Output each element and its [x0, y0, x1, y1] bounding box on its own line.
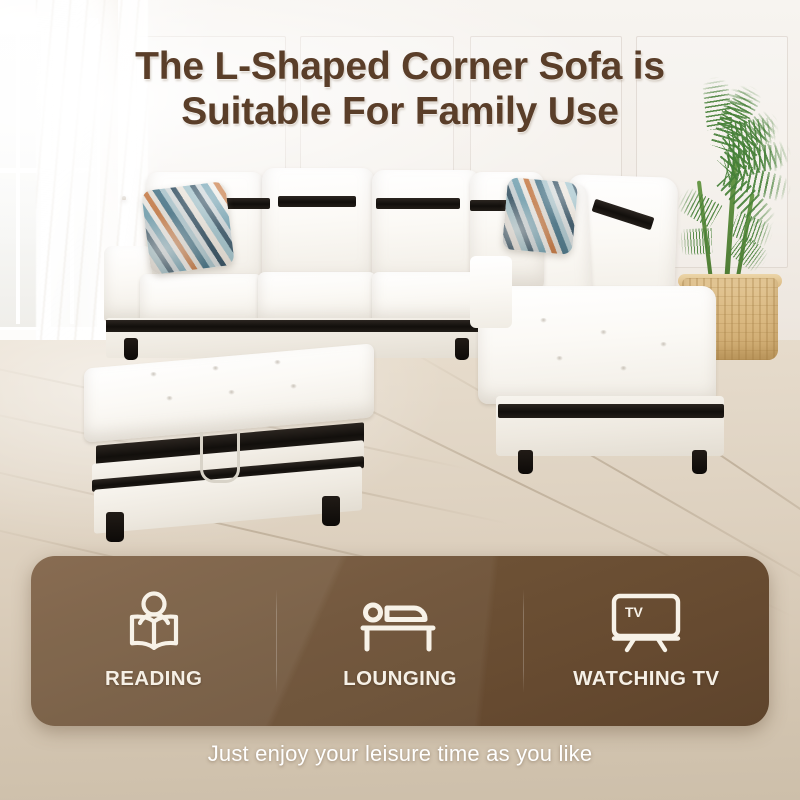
seat-cushion: [372, 272, 486, 324]
feature-lounging[interactable]: LOUNGING: [277, 556, 522, 726]
tv-icon-text: TV: [625, 604, 644, 620]
tv-icon: TV: [608, 591, 684, 653]
reading-icon: [118, 591, 190, 653]
feature-reading[interactable]: READING: [31, 556, 276, 726]
headline-line-1: The L-Shaped Corner Sofa is: [135, 45, 665, 88]
ottoman-pull-strap: [200, 432, 240, 483]
feature-watching-tv[interactable]: TV WATCHING TV: [524, 556, 769, 726]
feature-label: WATCHING TV: [573, 667, 719, 691]
footer-tagline: Just enjoy your leisure time as you like: [0, 741, 800, 767]
striped-accent-pillow: [502, 177, 578, 255]
product-banner-image: The L-Shaped Corner Sofa isSuitable For …: [0, 0, 800, 800]
seat-cushion: [258, 272, 376, 324]
headline-line-2: Suitable For Family Use: [181, 90, 619, 133]
lounging-icon: [360, 591, 440, 653]
feature-label: LOUNGING: [343, 667, 457, 691]
page-title: The L-Shaped Corner Sofa isSuitable For …: [0, 44, 800, 134]
striped-accent-pillow: [141, 181, 235, 275]
feature-banner: READING LOUNGING TV: [31, 556, 769, 726]
chaise-seat: [478, 286, 716, 404]
back-cushion: [372, 170, 480, 288]
feature-label: READING: [105, 667, 202, 691]
back-cushion: [262, 168, 374, 288]
